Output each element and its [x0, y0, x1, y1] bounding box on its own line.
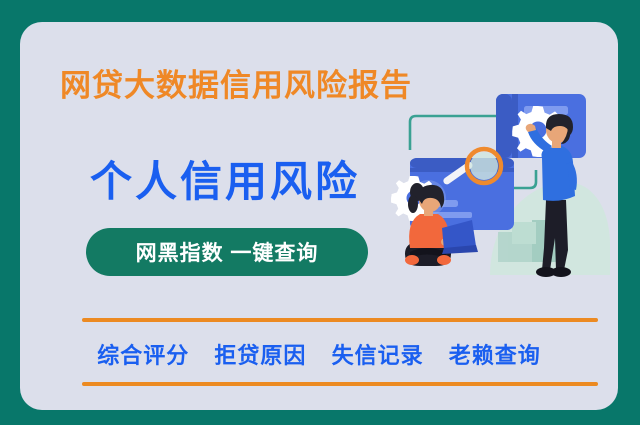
feature-links: 综合评分 拒贷原因 失信记录 老赖查询 [20, 338, 618, 370]
divider-top [82, 318, 598, 322]
hero-illustration [380, 70, 610, 305]
query-button-label: 网黑指数 一键查询 [136, 237, 319, 267]
magnifier-icon [467, 149, 501, 183]
feature-link-reason[interactable]: 拒贷原因 [214, 343, 306, 368]
feature-link-records[interactable]: 失信记录 [332, 343, 424, 368]
feature-link-laolai[interactable]: 老赖查询 [449, 343, 541, 368]
page-title: 网贷大数据信用风险报告 [60, 60, 412, 105]
subtitle: 个人信用风险 [90, 148, 360, 209]
divider-bottom [82, 382, 598, 386]
banner-card: 网贷大数据信用风险报告 个人信用风险 网黑指数 一键查询 综合评分 拒贷原因 失… [20, 22, 618, 410]
feature-link-score[interactable]: 综合评分 [97, 343, 189, 368]
query-button[interactable]: 网黑指数 一键查询 [86, 228, 368, 276]
promo-banner: 网贷大数据信用风险报告 个人信用风险 网黑指数 一键查询 综合评分 拒贷原因 失… [0, 0, 640, 425]
